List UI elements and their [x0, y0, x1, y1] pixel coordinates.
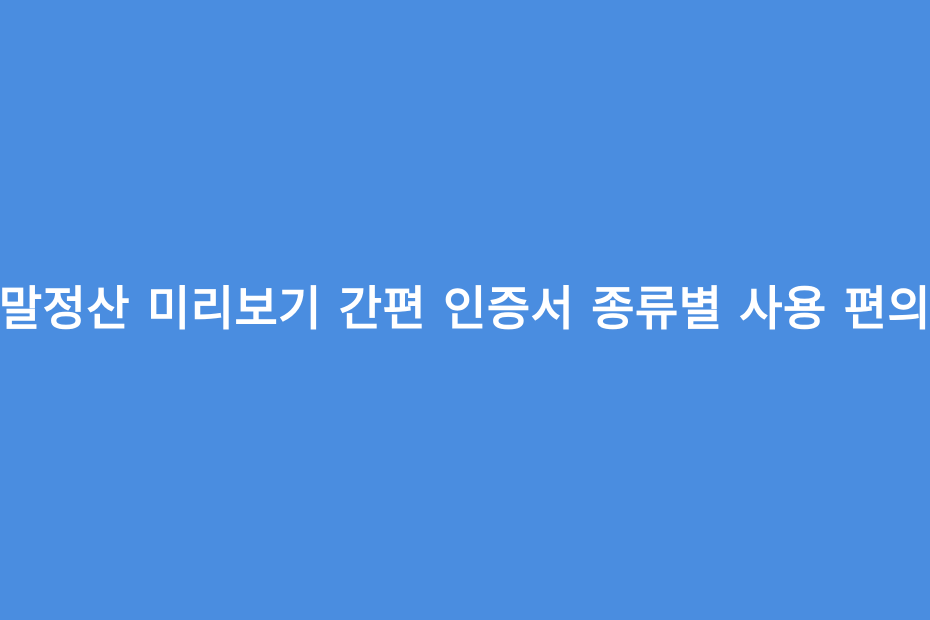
banner-headline: 연말정산 미리보기 간편 인증서 종류별 사용 편의성 [0, 283, 930, 337]
banner-background: 연말정산 미리보기 간편 인증서 종류별 사용 편의성 [0, 0, 930, 620]
headline-container: 연말정산 미리보기 간편 인증서 종류별 사용 편의성 [0, 283, 930, 337]
